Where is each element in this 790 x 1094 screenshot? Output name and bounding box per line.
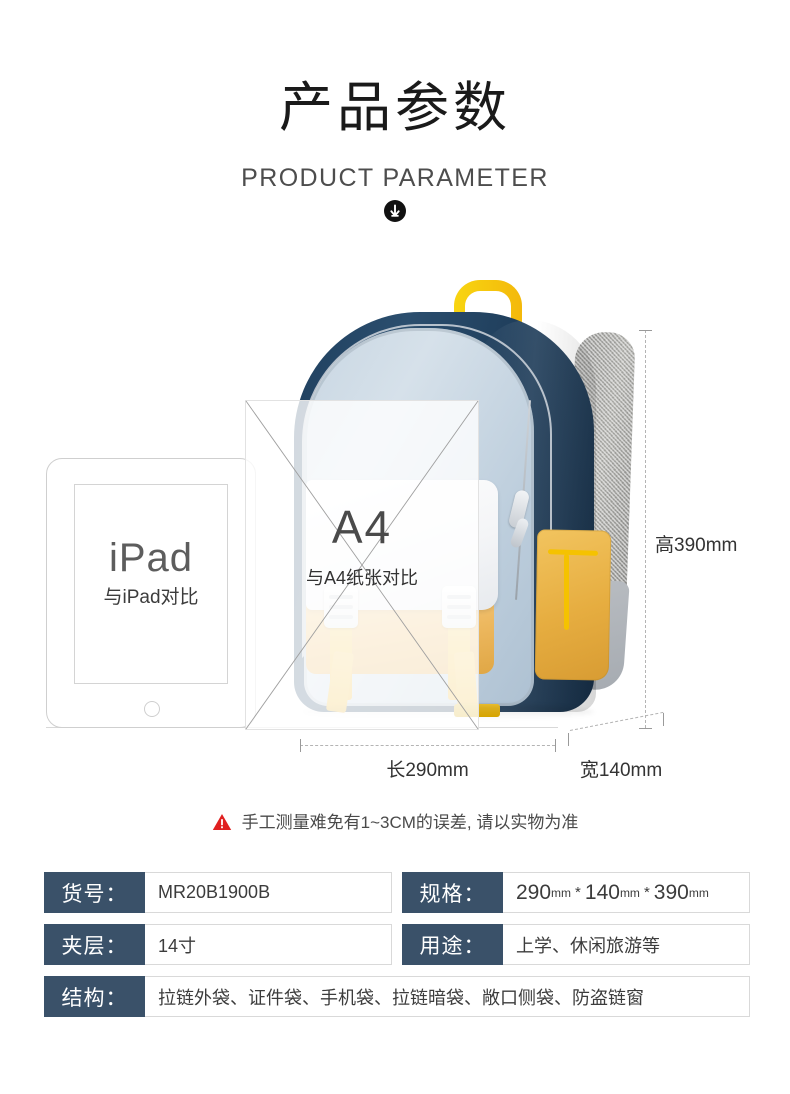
size-separator-2: *	[640, 884, 654, 901]
spec-cell-usage: 用途： 上学、休闲旅游等	[402, 924, 750, 965]
size-height-number: 390	[654, 881, 689, 905]
spec-value-item-no: MR20B1900B	[145, 872, 392, 913]
measurement-notice: 手工测量难免有1~3CM的误差, 请以实物为准	[0, 808, 790, 836]
size-width-unit: mm	[620, 886, 640, 900]
spec-value-interlayer: 14寸	[145, 924, 392, 965]
page-subtitle: PRODUCT PARAMETER	[0, 163, 790, 193]
spec-value-structure: 拉链外袋、证件袋、手机袋、拉链暗袋、敞口侧袋、防盗链窗	[145, 976, 750, 1017]
spec-cell-size: 规格： 290mm*140mm*390mm	[402, 872, 750, 913]
spec-label-structure: 结构：	[44, 976, 145, 1017]
spec-value-size: 290mm*140mm*390mm	[503, 872, 750, 913]
a4-diagonal-lines	[246, 401, 478, 729]
size-comparison-stage: iPad 与iPad对比 A4 与A4纸张对比 高390mm 长290mm 宽1…	[0, 240, 790, 800]
a4-paper-overlay: A4 与A4纸张对比	[245, 400, 479, 730]
size-separator-1: *	[571, 884, 585, 901]
table-row: 结构： 拉链外袋、证件袋、手机袋、拉链暗袋、敞口侧袋、防盗链窗	[44, 976, 750, 1017]
page-header: 产品参数 PRODUCT PARAMETER	[0, 0, 790, 240]
ipad-compare-caption: 与iPad对比	[47, 586, 255, 610]
spec-label-item-no: 货号：	[44, 872, 145, 913]
ipad-screen-area	[74, 484, 228, 684]
spec-table: 货号： MR20B1900B 规格： 290mm*140mm*390mm 夹层：…	[44, 872, 750, 1028]
spec-cell-interlayer: 夹层： 14寸	[44, 924, 392, 965]
length-dimension-line	[300, 745, 555, 746]
page-title: 产品参数	[0, 78, 790, 138]
table-row: 货号： MR20B1900B 规格： 290mm*140mm*390mm	[44, 872, 750, 913]
product-parameter-page: 产品参数 PRODUCT PARAMETER	[0, 0, 790, 1094]
size-height-unit: mm	[689, 886, 709, 900]
a4-compare-caption: 与A4纸张对比	[246, 566, 478, 590]
width-tick-left	[568, 733, 569, 746]
height-dimension-label: 高390mm	[655, 530, 737, 557]
spec-value-usage: 上学、休闲旅游等	[503, 924, 750, 965]
warning-triangle-icon	[212, 813, 232, 836]
measurement-notice-text: 手工测量难免有1~3CM的误差, 请以实物为准	[242, 813, 579, 832]
table-row: 夹层： 14寸 用途： 上学、休闲旅游等	[44, 924, 750, 965]
size-length-number: 290	[516, 881, 551, 905]
spec-label-usage: 用途：	[402, 924, 503, 965]
spec-cell-item-no: 货号： MR20B1900B	[44, 872, 392, 913]
spec-cell-structure: 结构： 拉链外袋、证件袋、手机袋、拉链暗袋、敞口侧袋、防盗链窗	[44, 976, 750, 1017]
ipad-home-button	[144, 701, 160, 717]
width-dimension-label: 宽140mm	[572, 755, 670, 782]
size-width-number: 140	[585, 881, 620, 905]
length-tick-right	[555, 739, 556, 752]
ipad-outline: iPad 与iPad对比	[46, 458, 256, 728]
height-tick-bottom	[639, 728, 652, 729]
a4-label: A4	[246, 501, 478, 553]
ipad-label: iPad	[47, 535, 255, 581]
spec-label-size: 规格：	[402, 872, 503, 913]
height-dimension-line	[645, 330, 646, 728]
length-tick-left	[300, 739, 301, 752]
backpack-side-pocket-zipper-v	[564, 554, 569, 630]
size-length-unit: mm	[551, 886, 571, 900]
arrow-down-circle-icon	[384, 200, 406, 222]
spec-label-interlayer: 夹层：	[44, 924, 145, 965]
length-dimension-label: 长290mm	[300, 755, 555, 782]
height-tick-top	[639, 330, 652, 331]
width-tick-right	[663, 713, 664, 726]
